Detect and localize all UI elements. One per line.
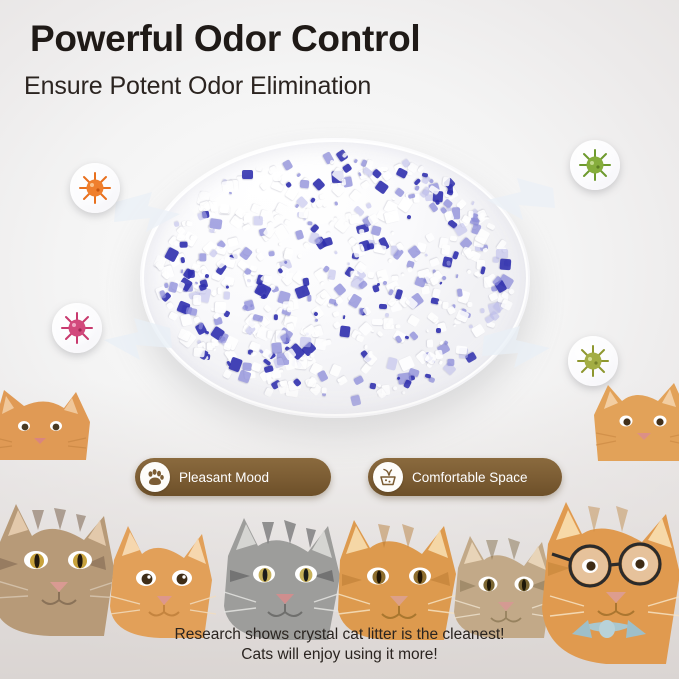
- cat-right-orange-upper: [588, 375, 679, 463]
- germ-olive-icon: [576, 344, 610, 378]
- bottom-caption: Research shows crystal cat litter is the…: [0, 625, 679, 665]
- feature-pill-pleasant-mood[interactable]: Pleasant Mood: [135, 458, 331, 496]
- cat-left-orange-upper: [0, 382, 104, 462]
- cat-litter-box-icon: [373, 462, 403, 492]
- germ-orange-icon: [78, 171, 112, 205]
- caption-line-2: Cats will enjoy using it more!: [0, 645, 679, 665]
- cat-ginger-maine-coon: [336, 516, 460, 642]
- crystal-litter-bowl: [140, 138, 530, 418]
- page-subtitle: Ensure Potent Odor Elimination: [24, 72, 371, 101]
- page-title: Powerful Odor Control: [30, 18, 420, 60]
- cat-grey-tabby-center: [222, 514, 344, 642]
- germ-bubble-orange: [70, 163, 120, 213]
- paw-print-icon: [140, 462, 170, 492]
- cat-orange-kitten: [108, 520, 216, 640]
- germ-bubble-pink: [52, 303, 102, 353]
- germ-green-icon: [578, 148, 612, 182]
- germ-pink-icon: [60, 311, 94, 345]
- caption-line-1: Research shows crystal cat litter is the…: [0, 625, 679, 645]
- feature-pill-label: Comfortable Space: [412, 470, 528, 485]
- product-infographic: Pleasant Mood Comfortable Space: [0, 0, 679, 679]
- feature-pill-label: Pleasant Mood: [179, 470, 269, 485]
- feature-pill-comfortable-space[interactable]: Comfortable Space: [368, 458, 562, 496]
- germ-bubble-green: [570, 140, 620, 190]
- cat-tabby-far-left: [0, 498, 120, 638]
